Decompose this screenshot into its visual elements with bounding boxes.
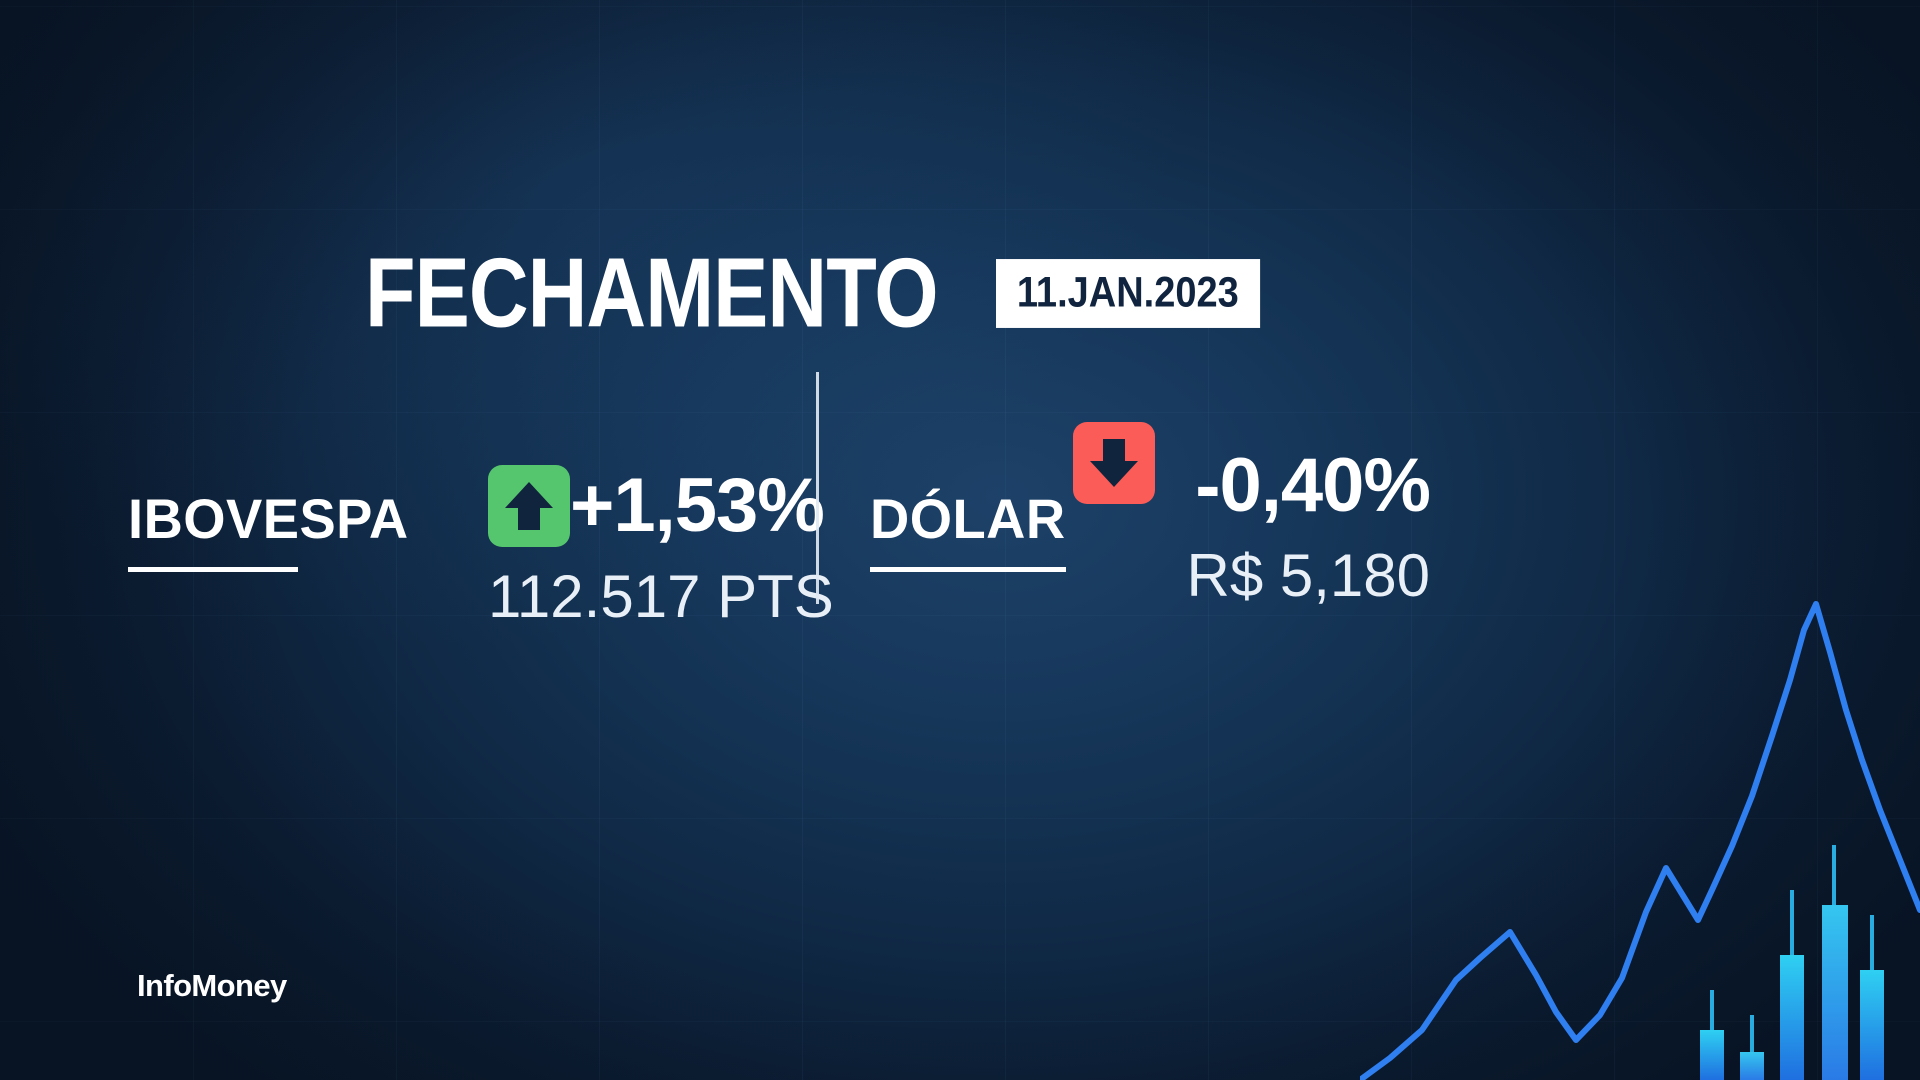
ibovespa-underline <box>128 567 298 572</box>
market-chart <box>1360 560 1920 1080</box>
ibovespa-change-row: +1,53% <box>488 465 838 547</box>
arrow-up-icon <box>488 465 570 547</box>
dolar-change-percent: -0,40% <box>1160 448 1430 524</box>
dolar-label-group: DÓLAR <box>870 491 1072 572</box>
ibovespa-value: 112.517 PTS <box>488 567 838 627</box>
section-divider <box>816 372 819 604</box>
infomoney-logo: InfoMoney <box>137 968 287 1004</box>
ibovespa-values: +1,53% 112.517 PTS <box>488 465 838 627</box>
logo-text-info: Info <box>137 968 191 1003</box>
ibovespa-label: IBOVESPA <box>128 491 409 547</box>
logo-text-money: Money <box>191 968 286 1003</box>
date-badge: 11.JAN.2023 <box>996 259 1260 328</box>
dolar-underline <box>870 567 1066 572</box>
page-title: FECHAMENTO <box>365 248 938 339</box>
dolar-label: DÓLAR <box>870 491 1066 547</box>
ibovespa-label-group: IBOVESPA <box>128 491 417 572</box>
ibovespa-change-percent: +1,53% <box>570 468 824 544</box>
dolar-arrow-wrap <box>1073 422 1155 504</box>
arrow-down-icon <box>1073 422 1155 504</box>
header: FECHAMENTO 11.JAN.2023 <box>365 253 1274 334</box>
